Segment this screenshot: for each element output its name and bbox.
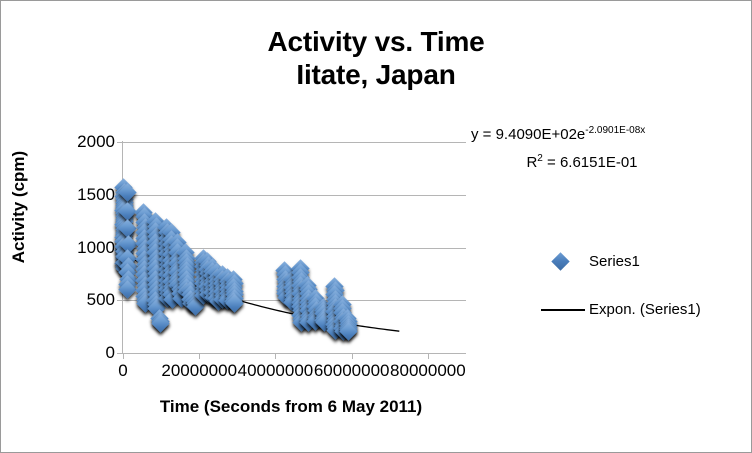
legend-item-series1[interactable]: Series1	[541, 251, 741, 273]
x-tick	[199, 353, 200, 359]
y-tick-label: 0	[55, 343, 115, 363]
r-squared-label: R	[526, 154, 537, 171]
chart-title-line1: Activity vs. Time	[267, 26, 484, 57]
r-squared-value: = 6.6151E-01	[543, 154, 638, 171]
x-tick-label: 0	[118, 361, 127, 381]
r-squared-line: R2 = 6.6151E-01	[471, 147, 721, 175]
x-axis-title: Time (Seconds from 6 May 2011)	[1, 397, 581, 417]
x-tick	[428, 353, 429, 359]
x-tick	[275, 353, 276, 359]
legend-item-trendline[interactable]: Expon. (Series1)	[541, 299, 741, 321]
data-markers	[123, 142, 466, 353]
plot-area	[123, 142, 466, 353]
equation-exponent: -2.0901E-08x	[585, 125, 645, 136]
legend: Series1 Expon. (Series1)	[541, 251, 741, 347]
chart-container: Activity vs. Time Iitate, Japan y = 9.40…	[0, 0, 752, 453]
x-tick-label: 80000000	[390, 361, 466, 381]
x-tick	[352, 353, 353, 359]
line-marker-icon	[541, 309, 585, 311]
trendline-equation: y = 9.4090E+02e-2.0901E-08x R2 = 6.6151E…	[471, 119, 721, 175]
gridline	[123, 353, 466, 354]
x-tick	[123, 353, 124, 359]
y-tick-label: 2000	[55, 132, 115, 152]
y-axis-title: Activity (cpm)	[9, 127, 29, 287]
y-tick-label: 1000	[55, 238, 115, 258]
equation-text: y = 9.4090E+02e	[471, 126, 585, 143]
x-tick-label: 40000000	[238, 361, 314, 381]
legend-label: Expon. (Series1)	[589, 299, 701, 321]
x-axis-tick-labels: 020000000400000006000000080000000	[1, 361, 751, 385]
chart-title: Activity vs. Time Iitate, Japan	[1, 25, 751, 91]
y-tick-label: 1500	[55, 185, 115, 205]
equation-line: y = 9.4090E+02e-2.0901E-08x	[471, 119, 721, 147]
y-axis-tick-labels: 0500100015002000	[51, 142, 115, 354]
chart-title-line2: Iitate, Japan	[1, 58, 751, 91]
x-tick-label: 20000000	[161, 361, 237, 381]
y-tick-label: 500	[55, 290, 115, 310]
legend-label: Series1	[589, 251, 640, 273]
x-tick-label: 60000000	[314, 361, 390, 381]
diamond-marker-icon	[551, 252, 569, 270]
